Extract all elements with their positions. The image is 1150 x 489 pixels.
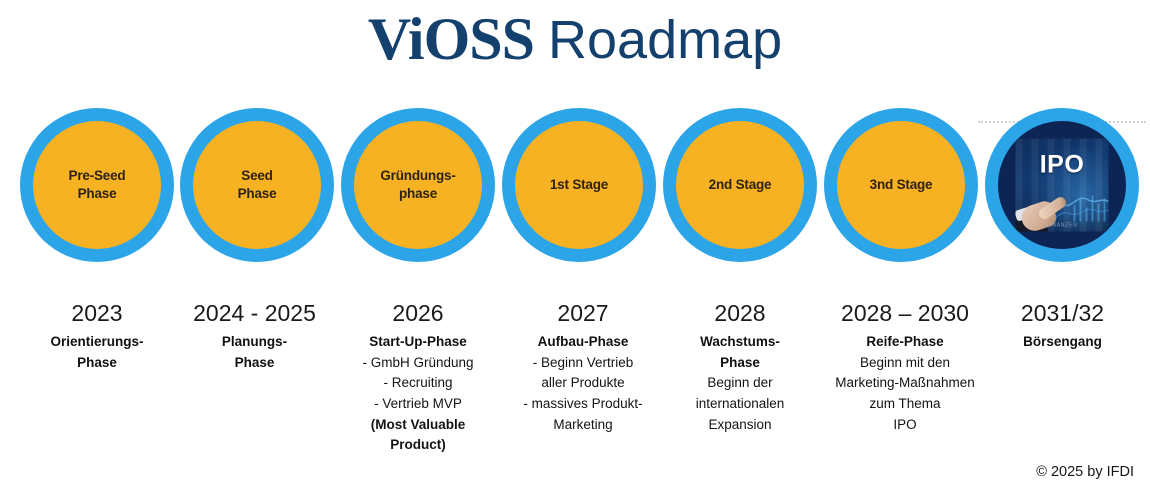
vioss-logo-wordmark: ViOSS (368, 9, 534, 69)
phase-circle-gruendungsphase[interactable]: Gründungs- phase (341, 108, 495, 262)
phase-circle-inner: Pre-Seed Phase (33, 121, 161, 249)
roadmap-circles-row: Pre-Seed Phase Seed Phase Gründungs- pha… (0, 108, 1150, 268)
roadmap-title-word: Roadmap (548, 13, 782, 67)
phase-circle-inner: Gründungs- phase (354, 121, 482, 249)
page-title: ViOSS Roadmap (0, 2, 1150, 74)
phase-circle-label: 1st Stage (550, 176, 608, 194)
roadmap-columns: 2023 Orientierungs- Phase 2024 - 2025 Pl… (0, 300, 1150, 489)
phase-circle-1st-stage[interactable]: 1st Stage (502, 108, 656, 262)
phase-circle-seed[interactable]: Seed Phase (180, 108, 334, 262)
phase-circle-label: Seed Phase (238, 167, 277, 203)
roadmap-column-2026: 2026 Start-Up-Phase - GmbH Gründung - Re… (328, 300, 508, 456)
phase-circle-2nd-stage[interactable]: 2nd Stage (663, 108, 817, 262)
phase-circle-inner: 3nd Stage (837, 121, 965, 249)
column-year: 2027 (490, 300, 676, 326)
roadmap-column-2024-2025: 2024 - 2025 Planungs- Phase (162, 300, 347, 373)
phase-circle-ipo[interactable]: IPO FINANZEN (985, 108, 1139, 262)
phase-circle-pre-seed[interactable]: Pre-Seed Phase (20, 108, 174, 262)
roadmap-column-2023: 2023 Orientierungs- Phase (7, 300, 187, 373)
phase-circle-3nd-stage[interactable]: 3nd Stage (824, 108, 978, 262)
phase-circle-label: 2nd Stage (709, 176, 772, 194)
column-year: 2023 (7, 300, 187, 326)
column-year: 2024 - 2025 (162, 300, 347, 326)
column-year: 2031/32 (975, 300, 1150, 326)
column-detail: Beginn mit den Marketing-Maßnahmen zum T… (800, 353, 1010, 435)
column-phase-name: Aufbau-Phase (490, 332, 676, 353)
phase-circle-inner: 2nd Stage (676, 121, 804, 249)
phase-circle-label: Gründungs- phase (380, 167, 455, 203)
phase-circle-label: Pre-Seed Phase (69, 167, 126, 203)
column-phase-name: Start-Up-Phase (328, 332, 508, 353)
roadmap-column-2027: 2027 Aufbau-Phase - Beginn Vertrieb alle… (490, 300, 676, 435)
column-detail-emphasis: (Most Valuable Product) (328, 415, 508, 456)
column-phase-name: Planungs- Phase (162, 332, 347, 373)
column-phase-name: Börsengang (975, 332, 1150, 353)
column-phase-name: Orientierungs- Phase (7, 332, 187, 373)
column-detail: - GmbH Gründung - Recruiting - Vertrieb … (328, 353, 508, 415)
ipo-photo-caption: IPO (1016, 153, 1109, 178)
phase-circle-inner: Seed Phase (193, 121, 321, 249)
roadmap-column-2031-32: 2031/32 Börsengang (975, 300, 1150, 353)
ipo-photo-image: IPO FINANZEN (1016, 139, 1109, 232)
phase-circle-inner: 1st Stage (515, 121, 643, 249)
column-detail: - Beginn Vertrieb aller Produkte - massi… (490, 353, 676, 435)
phase-circle-inner: IPO FINANZEN (998, 121, 1126, 249)
phase-circle-label: 3nd Stage (870, 176, 933, 194)
column-year: 2026 (328, 300, 508, 326)
ipo-photo-subtext: FINANZEN (1016, 223, 1109, 229)
copyright-notice: © 2025 by IFDI (1036, 464, 1134, 480)
